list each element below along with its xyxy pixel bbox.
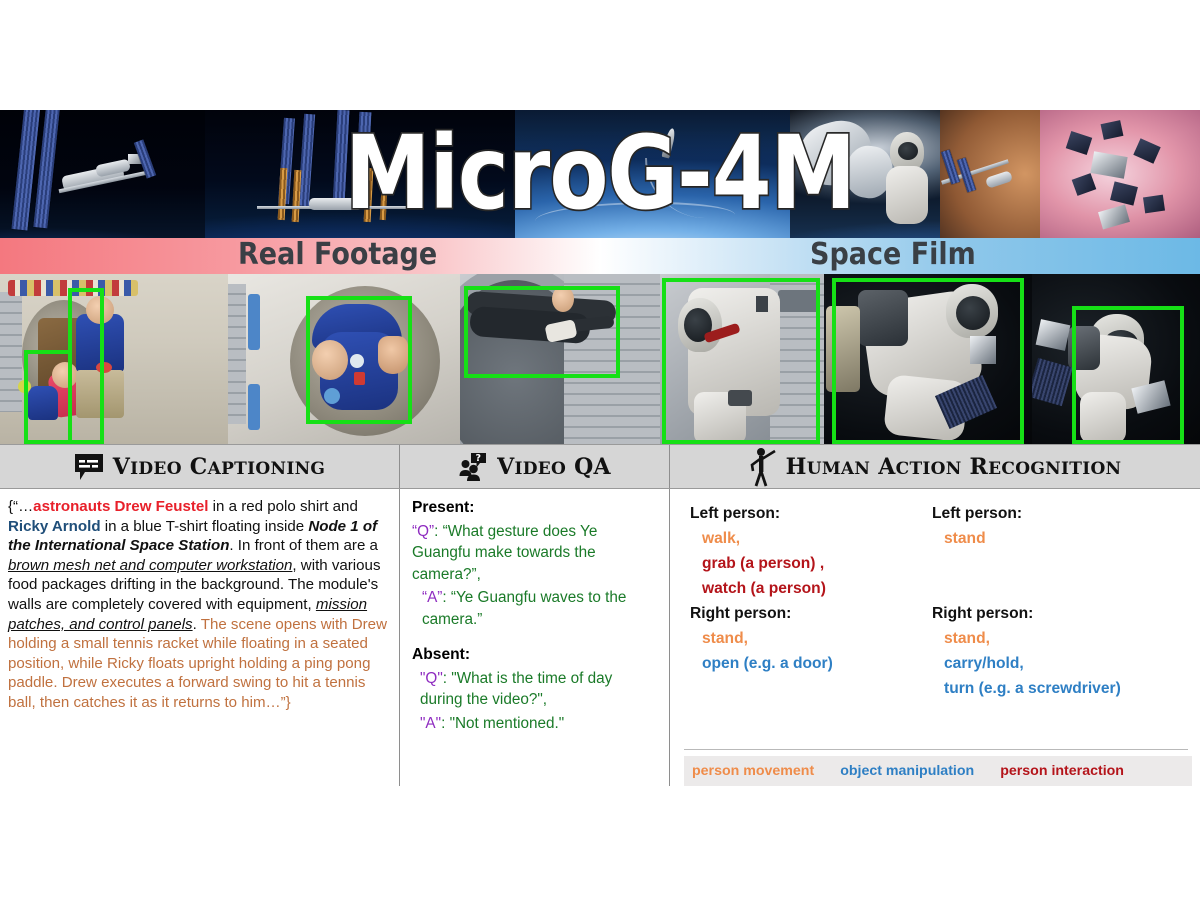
qa-a-text: : “Ye Guangfu waves to the camera.” bbox=[422, 589, 626, 628]
qa-absent-question: "Q": "What is the time of day during the… bbox=[412, 668, 659, 711]
svg-text:?: ? bbox=[476, 453, 482, 464]
har-action: open (e.g. a door) bbox=[690, 651, 833, 676]
har-action: carry/hold, bbox=[932, 651, 1121, 676]
video-frame-real-1 bbox=[0, 274, 228, 444]
space-film-label: Space Film bbox=[810, 238, 976, 272]
qa-q-key: “Q” bbox=[412, 523, 434, 540]
bounding-box bbox=[464, 286, 620, 378]
har-action: turn (e.g. a screwdriver) bbox=[932, 676, 1121, 701]
caption-text-1: in a red polo shirt and bbox=[208, 498, 357, 515]
banner-frame-iss-truss bbox=[205, 110, 515, 238]
video-frame-film-1 bbox=[460, 274, 660, 444]
banner-frame-rocket-launch bbox=[515, 110, 790, 238]
bounding-box bbox=[662, 278, 820, 444]
legend-person-interaction: person interaction bbox=[1000, 763, 1124, 779]
panel-header-row: VIDEO CAPTIONING ? VIDEO QA bbox=[0, 445, 1200, 489]
qa-a-key: “A” bbox=[422, 589, 442, 606]
har-legend: person movement object manipulation pers… bbox=[684, 756, 1192, 786]
qa-q-key-absent: "Q" bbox=[420, 670, 443, 687]
people-question-icon: ? bbox=[458, 452, 488, 482]
panel-bodies: {“…astronauts Drew Feustel in a red polo… bbox=[0, 489, 1200, 786]
legend-person-movement: person movement bbox=[692, 763, 814, 779]
har-action: stand bbox=[932, 526, 1121, 551]
banner-frame-shuttle-mars bbox=[790, 110, 1040, 238]
panel-header-video-qa: ? VIDEO QA bbox=[400, 445, 670, 488]
video-captioning-body: {“…astronauts Drew Feustel in a red polo… bbox=[0, 489, 400, 786]
panel-title-captioning: VIDEO CAPTIONING bbox=[113, 454, 325, 480]
bounding-box bbox=[306, 296, 412, 424]
human-action-recognition-body: Left person: walk, grab (a person) , wat… bbox=[670, 489, 1200, 786]
caption-open: {“… bbox=[8, 498, 33, 515]
video-frame-film-2 bbox=[660, 274, 824, 444]
qa-a-key-absent: "A" bbox=[420, 715, 441, 732]
qa-q-text-absent: : "What is the time of day during the vi… bbox=[420, 670, 612, 709]
video-frame-film-4 bbox=[1032, 274, 1200, 444]
bounding-box bbox=[1072, 306, 1184, 444]
qa-a-text-absent: : "Not mentioned." bbox=[441, 715, 564, 732]
har-action: watch (a person) bbox=[690, 576, 833, 601]
qa-q-text: : “What gesture does Ye Guangfu make tow… bbox=[412, 523, 597, 583]
har-right-person-label: Right person: bbox=[932, 601, 1121, 626]
caption-text-3: . In front of them are a bbox=[229, 537, 378, 554]
bounding-box bbox=[68, 288, 104, 444]
har-legend-divider bbox=[684, 749, 1188, 750]
task-panels: VIDEO CAPTIONING ? VIDEO QA bbox=[0, 444, 1200, 786]
caption-text-5: . bbox=[193, 616, 197, 633]
video-frame-strip bbox=[0, 274, 1200, 444]
qa-present-answer: “A”: “Ye Guangfu waves to the camera.” bbox=[412, 587, 659, 630]
panel-header-human-action-recognition: HUMAN ACTION RECOGNITION bbox=[670, 445, 1200, 488]
source-type-bar: Real Footage Space Film bbox=[0, 238, 1200, 274]
panel-title-har: HUMAN ACTION RECOGNITION bbox=[786, 454, 1122, 480]
video-qa-body: Present: “Q”: “What gesture does Ye Guan… bbox=[400, 489, 670, 786]
panel-title-videoqa: VIDEO QA bbox=[497, 454, 611, 480]
har-action: walk, bbox=[690, 526, 833, 551]
har-left-person-label: Left person: bbox=[932, 501, 1121, 526]
qa-present-question: “Q”: “What gesture does Ye Guangfu make … bbox=[412, 521, 659, 586]
legend-object-manipulation: object manipulation bbox=[840, 763, 974, 779]
banner-image-strip: MicroG-4M bbox=[0, 110, 1200, 238]
figure-root: MicroG-4M Real Footage Space Film bbox=[0, 110, 1200, 786]
panel-header-video-captioning: VIDEO CAPTIONING bbox=[0, 445, 400, 488]
har-action: stand, bbox=[690, 626, 833, 651]
har-action: stand, bbox=[932, 626, 1121, 651]
caption-object-1: brown mesh net and computer workstation bbox=[8, 557, 292, 574]
video-frame-film-3 bbox=[824, 274, 1032, 444]
qa-spacer bbox=[412, 630, 659, 644]
qa-present-label: Present: bbox=[412, 497, 659, 519]
real-footage-label: Real Footage bbox=[238, 238, 437, 272]
har-action: grab (a person) , bbox=[690, 551, 833, 576]
har-spacer bbox=[932, 551, 1121, 601]
stick-figure-icon bbox=[749, 447, 777, 487]
caption-text-2: in a blue T-shirt floating inside bbox=[101, 518, 309, 535]
har-left-person-label: Left person: bbox=[690, 501, 833, 526]
bounding-box bbox=[832, 278, 1024, 444]
banner-frame-satellite-swarm bbox=[1040, 110, 1200, 238]
qa-absent-answer: "A": "Not mentioned." bbox=[412, 713, 659, 735]
har-column-2: Left person: stand Right person: stand, … bbox=[932, 501, 1121, 701]
har-content: Left person: walk, grab (a person) , wat… bbox=[684, 499, 1192, 786]
caption-name-1: astronauts Drew Feustel bbox=[33, 498, 208, 515]
caption-paragraph: {“…astronauts Drew Feustel in a red polo… bbox=[8, 497, 391, 713]
qa-absent-label: Absent: bbox=[412, 644, 659, 666]
har-column-1: Left person: walk, grab (a person) , wat… bbox=[690, 501, 833, 676]
qa-block: Present: “Q”: “What gesture does Ye Guan… bbox=[412, 497, 659, 734]
bounding-box bbox=[24, 350, 72, 444]
closed-caption-bubble-icon bbox=[74, 452, 104, 482]
video-frame-real-2 bbox=[228, 274, 460, 444]
banner-frame-iss-earth bbox=[0, 110, 205, 238]
har-right-person-label: Right person: bbox=[690, 601, 833, 626]
caption-name-2: Ricky Arnold bbox=[8, 518, 101, 535]
